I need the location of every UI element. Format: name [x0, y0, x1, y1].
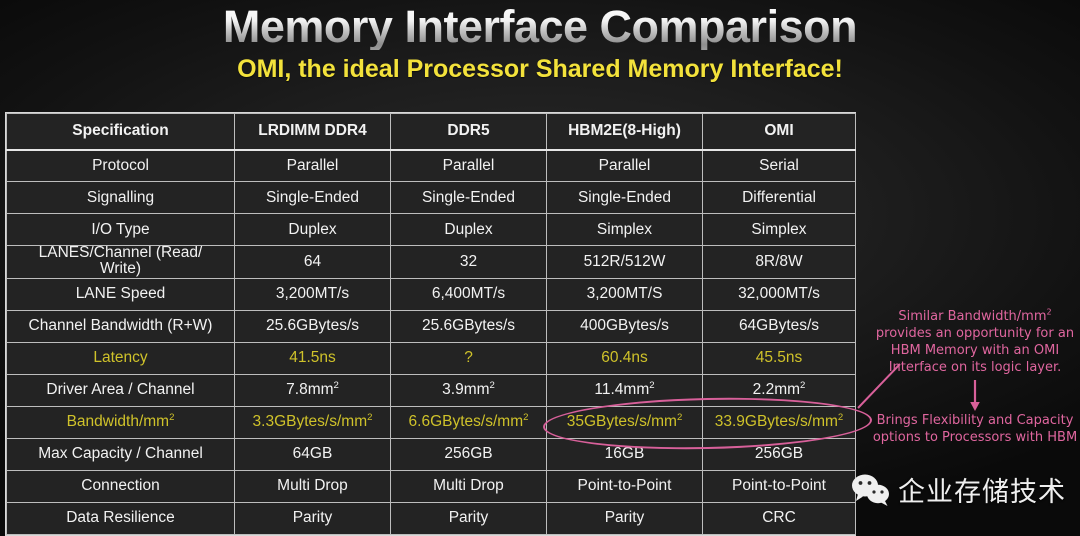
- table-cell-value: Parity: [235, 502, 391, 534]
- table-row: SignallingSingle-EndedSingle-EndedSingle…: [7, 182, 856, 214]
- table-cell-value: 60.4ns: [547, 342, 703, 374]
- table-cell-spec: Max Capacity / Channel: [7, 438, 235, 470]
- slide-canvas: Memory Interface Comparison OMI, the ide…: [0, 0, 1080, 536]
- table-row: I/O TypeDuplexDuplexSimplexSimplex: [7, 214, 856, 246]
- table-cell-spec: Data Resilience: [7, 502, 235, 534]
- table-cell-value: 45.5ns: [703, 342, 856, 374]
- table-row: Latency41.5ns?60.4ns45.5ns: [7, 342, 856, 374]
- table-cell-value: 3.3GBytes/s/mm2: [235, 406, 391, 438]
- table-cell-value: 256GB: [703, 438, 856, 470]
- table-cell-value: 3,200MT/S: [547, 278, 703, 310]
- table-cell-value: Parallel: [235, 150, 391, 182]
- table-cell-value: Simplex: [547, 214, 703, 246]
- page-subtitle: OMI, the ideal Processor Shared Memory I…: [0, 56, 1080, 84]
- table-cell-spec: Signalling: [7, 182, 235, 214]
- table-cell-value: 64GBytes/s: [703, 310, 856, 342]
- table-cell-value: Multi Drop: [235, 470, 391, 502]
- title-block: Memory Interface Comparison OMI, the ide…: [0, 0, 1080, 84]
- watermark-text: 企业存储技术: [898, 470, 1066, 509]
- table-cell-value: Point-to-Point: [703, 470, 856, 502]
- table-cell-value: 64GB: [235, 438, 391, 470]
- table-row: ProtocolParallelParallelParallelSerial: [7, 150, 856, 182]
- table-cell-value: Duplex: [391, 214, 547, 246]
- table-cell-spec: LANE Speed: [7, 278, 235, 310]
- table-cell-value: 64: [235, 246, 391, 279]
- table-cell-spec: Latency: [7, 342, 235, 374]
- table-cell-value: CRC: [703, 502, 856, 534]
- table-cell-spec: I/O Type: [7, 214, 235, 246]
- page-title: Memory Interface Comparison: [0, 3, 1080, 50]
- table-cell-value: 512R/512W: [547, 246, 703, 279]
- table-row: LANES/Channel (Read/Write)6432512R/512W8…: [7, 246, 856, 279]
- table-cell-value: 6.6GBytes/s/mm2: [391, 406, 547, 438]
- table-cell-value: Parity: [547, 502, 703, 534]
- table-cell-value: 25.6GBytes/s: [391, 310, 547, 342]
- table-cell-value: Duplex: [235, 214, 391, 246]
- table-cell-value: Point-to-Point: [547, 470, 703, 502]
- table-header-cell-4: OMI: [703, 114, 856, 150]
- table-body: ProtocolParallelParallelParallelSerialSi…: [7, 150, 856, 535]
- table-cell-value: 3.9mm2: [391, 374, 547, 406]
- table-row: LANE Speed3,200MT/s6,400MT/s3,200MT/S32,…: [7, 278, 856, 310]
- table-row: Channel Bandwidth (R+W)25.6GBytes/s25.6G…: [7, 310, 856, 342]
- table-cell-value: 6,400MT/s: [391, 278, 547, 310]
- table-cell-value: 33.9GBytes/s/mm2: [703, 406, 856, 438]
- table-row: Driver Area / Channel7.8mm23.9mm211.4mm2…: [7, 374, 856, 406]
- table-cell-value: 32: [391, 246, 547, 279]
- table-header-cell-2: DDR5: [391, 114, 547, 150]
- table-row: Bandwidth/mm23.3GBytes/s/mm26.6GBytes/s/…: [7, 406, 856, 438]
- table-cell-value: Single-Ended: [391, 182, 547, 214]
- table-cell-value: 7.8mm2: [235, 374, 391, 406]
- table-cell-spec: Driver Area / Channel: [7, 374, 235, 406]
- table-header-cell-0: Specification: [7, 114, 235, 150]
- table-header-cell-1: LRDIMM DDR4: [235, 114, 391, 150]
- table-cell-value: 11.4mm2: [547, 374, 703, 406]
- table-row: ConnectionMulti DropMulti DropPoint-to-P…: [7, 470, 856, 502]
- down-arrow-icon: [967, 380, 983, 412]
- annotation-bottom: Brings Flexibility and Capacity options …: [872, 412, 1078, 446]
- table-cell-value: 16GB: [547, 438, 703, 470]
- table-cell-value: 400GBytes/s: [547, 310, 703, 342]
- table-cell-value: 25.6GBytes/s: [235, 310, 391, 342]
- table-cell-value: 41.5ns: [235, 342, 391, 374]
- table-cell-value: Simplex: [703, 214, 856, 246]
- table-cell-value: Multi Drop: [391, 470, 547, 502]
- table-cell-value: 3,200MT/s: [235, 278, 391, 310]
- table-cell-spec: LANES/Channel (Read/Write): [7, 246, 235, 279]
- table-cell-spec: Channel Bandwidth (R+W): [7, 310, 235, 342]
- table-cell-value: 2.2mm2: [703, 374, 856, 406]
- table-cell-value: 8R/8W: [703, 246, 856, 279]
- table-cell-value: 32,000MT/s: [703, 278, 856, 310]
- watermark: 企业存储技术: [851, 470, 1066, 509]
- table-cell-value: Single-Ended: [235, 182, 391, 214]
- table-row: Max Capacity / Channel64GB256GB16GB256GB: [7, 438, 856, 470]
- comparison-table-container: SpecificationLRDIMM DDR4DDR5HBM2E(8-High…: [5, 112, 856, 536]
- table-cell-spec: Connection: [7, 470, 235, 502]
- table-cell-value: 35GBytes/s/mm2: [547, 406, 703, 438]
- table-cell-value: ?: [391, 342, 547, 374]
- table-cell-value: Differential: [703, 182, 856, 214]
- wechat-icon: [851, 473, 891, 507]
- annotation-top: Similar Bandwidth/mm2 provides an opport…: [872, 308, 1078, 377]
- table-cell-spec: Protocol: [7, 150, 235, 182]
- table-cell-value: Parallel: [547, 150, 703, 182]
- table-header-cell-3: HBM2E(8-High): [547, 114, 703, 150]
- table-header-row: SpecificationLRDIMM DDR4DDR5HBM2E(8-High…: [7, 114, 856, 150]
- table-cell-value: 256GB: [391, 438, 547, 470]
- table-cell-value: Parallel: [391, 150, 547, 182]
- table-cell-value: Single-Ended: [547, 182, 703, 214]
- table-row: Data ResilienceParityParityParityCRC: [7, 502, 856, 534]
- comparison-table: SpecificationLRDIMM DDR4DDR5HBM2E(8-High…: [6, 113, 856, 535]
- table-cell-value: Serial: [703, 150, 856, 182]
- table-cell-spec: Bandwidth/mm2: [7, 406, 235, 438]
- table-cell-value: Parity: [391, 502, 547, 534]
